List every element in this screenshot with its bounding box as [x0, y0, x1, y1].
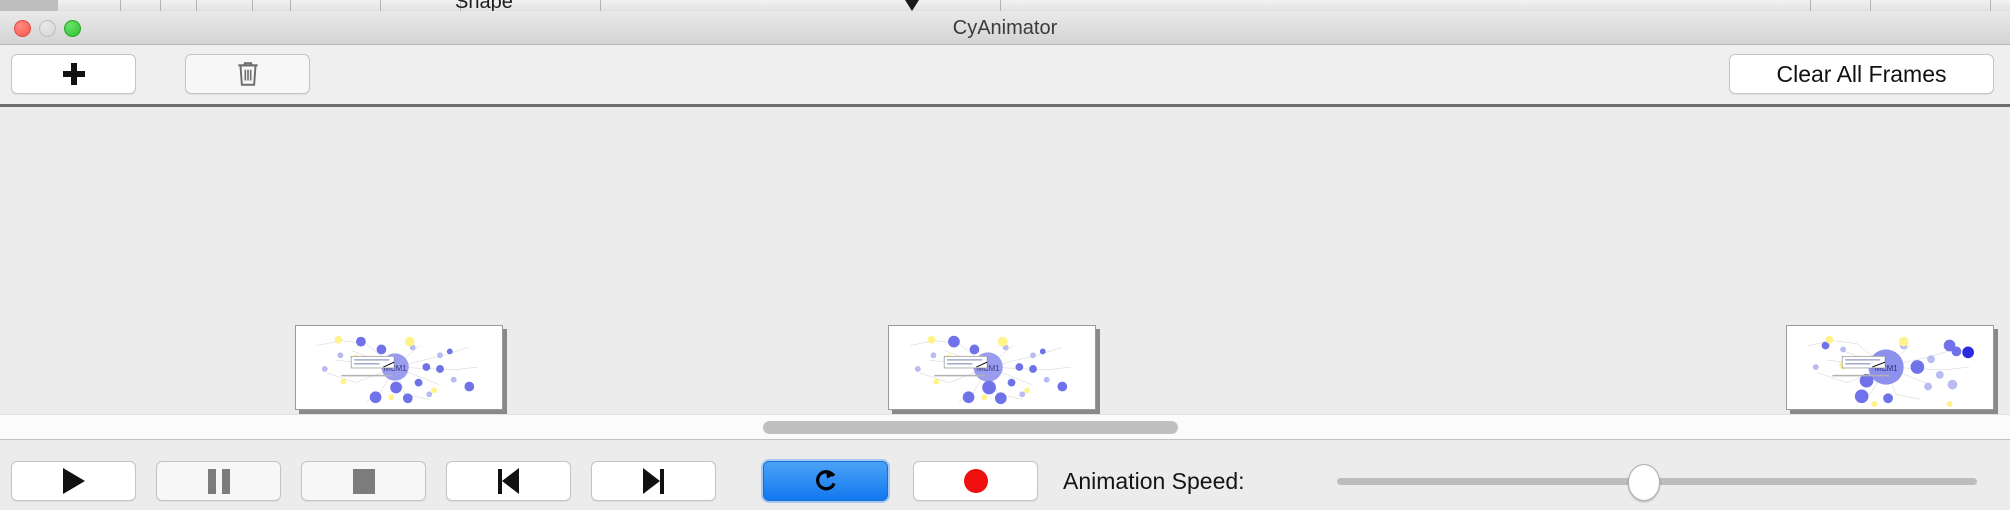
play-icon [63, 468, 85, 494]
delete-frame-button[interactable] [185, 54, 310, 94]
loop-icon [813, 467, 839, 495]
record-icon [964, 469, 988, 493]
timeline-panel[interactable]: MCM1 [0, 110, 2010, 419]
pause-icon [208, 469, 230, 494]
clear-all-frames-button[interactable]: Clear All Frames [1729, 54, 1994, 94]
skip-back-icon [498, 468, 519, 494]
frame-thumbnail-1[interactable]: MCM1 [295, 325, 503, 410]
stop-icon [353, 469, 375, 494]
previous-frame-button[interactable] [446, 461, 571, 501]
animation-speed-slider[interactable] [1337, 461, 1977, 501]
next-frame-button[interactable] [591, 461, 716, 501]
add-frame-button[interactable] [11, 54, 136, 94]
pause-button[interactable] [156, 461, 281, 501]
animation-speed-label: Animation Speed: [1063, 461, 1245, 501]
network-graph-preview: MCM1 [296, 326, 502, 409]
timeline-scrollbar[interactable] [0, 414, 2010, 440]
plus-icon [63, 63, 85, 85]
stop-button[interactable] [301, 461, 426, 501]
network-graph-preview: MCM1 [1787, 326, 1993, 409]
loop-button[interactable] [763, 461, 888, 501]
play-button[interactable] [11, 461, 136, 501]
record-button[interactable] [913, 461, 1038, 501]
slider-thumb[interactable] [1628, 464, 1660, 501]
skip-forward-icon [643, 468, 664, 494]
cyanimator-window: Shape CyAnimator Clear All Frames [0, 0, 2010, 510]
network-graph-preview: MCM1 [889, 326, 1095, 409]
scrollbar-thumb[interactable] [763, 421, 1178, 434]
window-title: CyAnimator [0, 11, 2010, 45]
frame-thumbnail-2[interactable]: MCM1 [888, 325, 1096, 410]
title-bar: CyAnimator [0, 11, 2010, 45]
trash-icon [235, 60, 261, 88]
frame-thumbnail-3[interactable]: MCM1 [1786, 325, 1994, 410]
